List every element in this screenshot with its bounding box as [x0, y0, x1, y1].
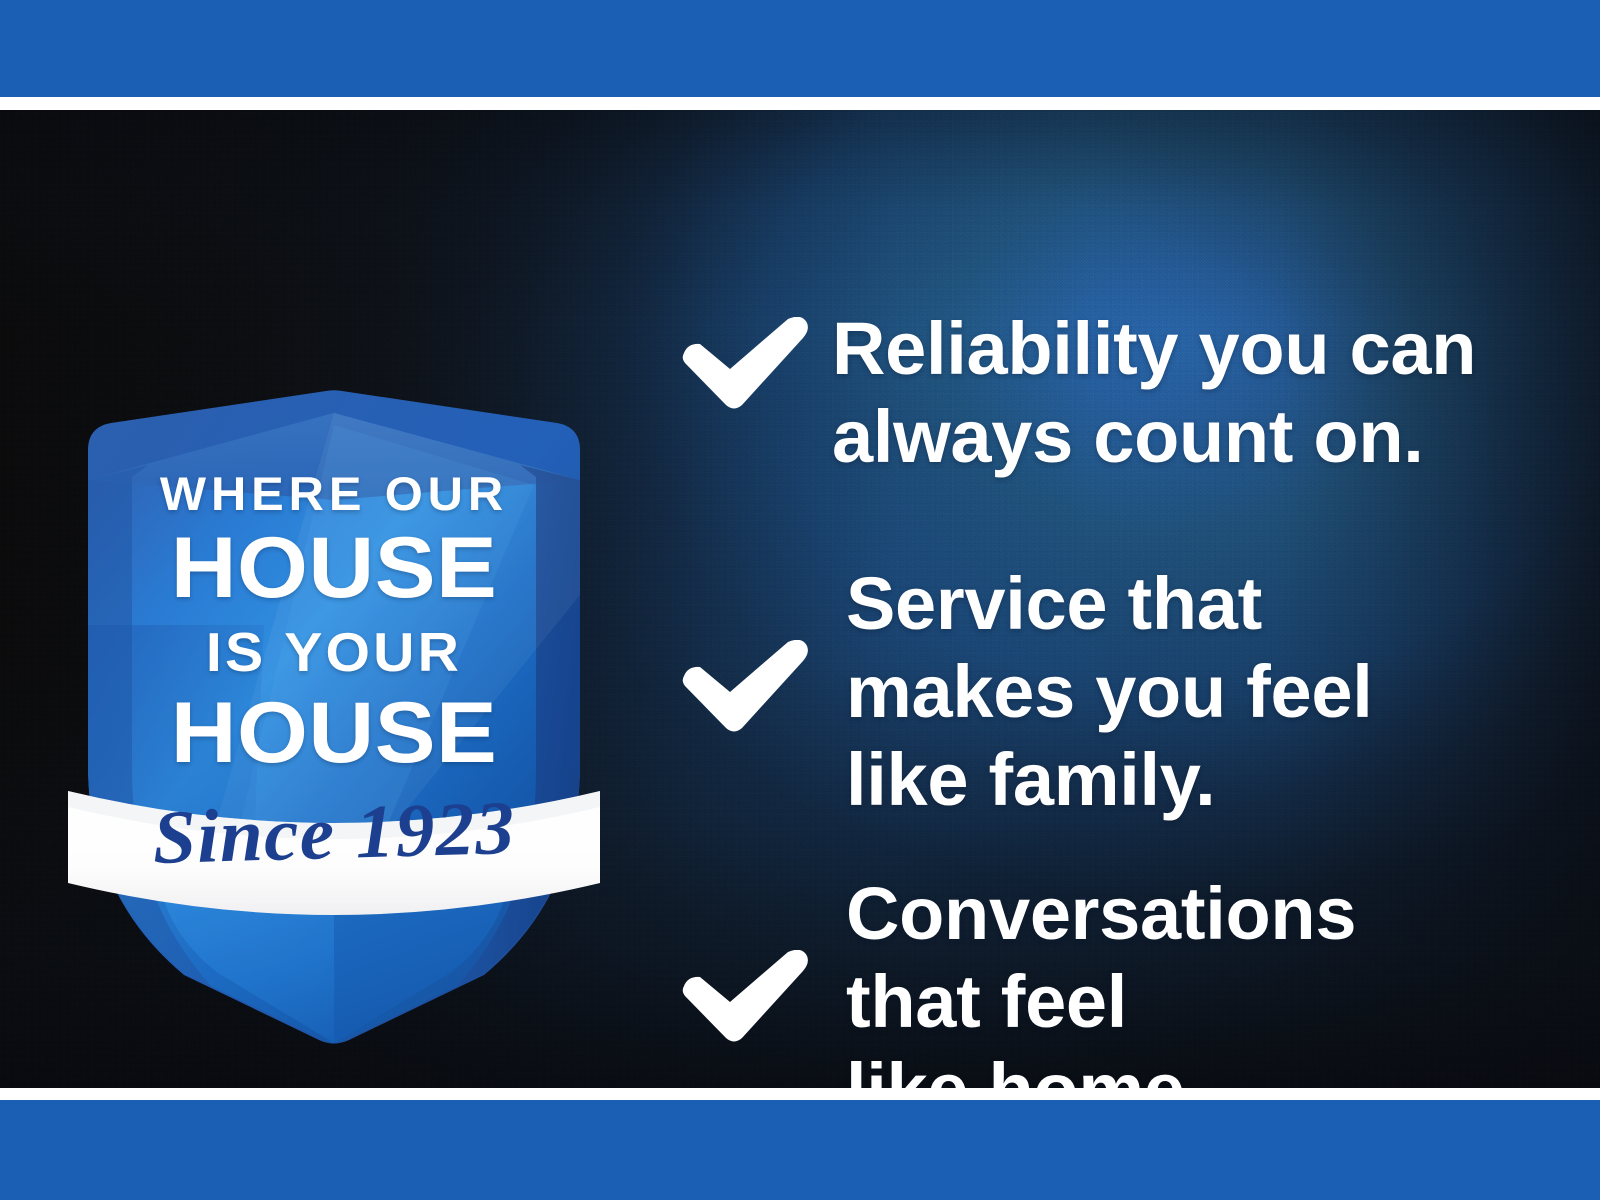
benefits-list: Reliability you can always count on. Ser… [676, 305, 1496, 1088]
shield-ribbon-since-text: Since 1923 [58, 787, 611, 878]
benefit-text-1: Reliability you can always count on. [832, 305, 1496, 481]
top-frame-bar [0, 0, 1600, 97]
shield-badge: WHERE OUR HOUSE IS YOUR HOUSE Since 1923 [64, 295, 604, 1055]
benefit-item-3: Conversations that feel like home. [676, 870, 1496, 1088]
benefit-item-1: Reliability you can always count on. [676, 305, 1496, 560]
benefit-item-2: Service that makes you feel like family. [676, 560, 1496, 870]
shield-line-where-our: WHERE OUR [53, 470, 615, 517]
bottom-frame-bar [0, 1100, 1600, 1200]
benefit-text-3: Conversations that feel like home. [846, 870, 1496, 1088]
bottom-frame-rule [0, 1088, 1600, 1100]
checkmark-icon [676, 640, 816, 732]
shield-line-house-bottom: HOUSE [48, 690, 620, 776]
checkmark-icon [676, 317, 816, 409]
checkmark-icon [676, 950, 816, 1042]
artwork-stage: WHERE OUR HOUSE IS YOUR HOUSE Since 1923… [0, 110, 1600, 1088]
shield-line-is-your: IS YOUR [53, 625, 615, 680]
benefit-text-2: Service that makes you feel like family. [846, 560, 1496, 824]
top-frame-rule [0, 97, 1600, 110]
shield-line-house-top: HOUSE [48, 525, 620, 611]
